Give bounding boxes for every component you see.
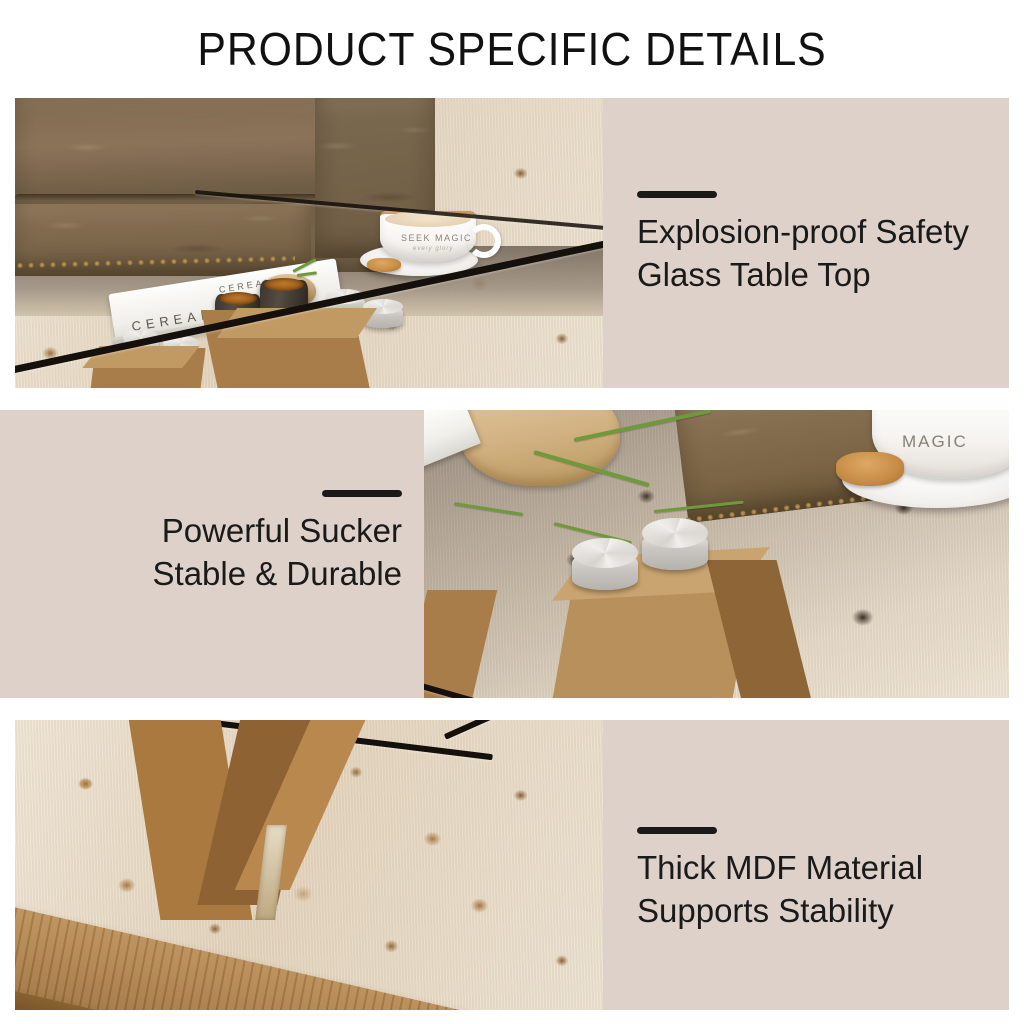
cookie — [836, 452, 904, 486]
cookie — [367, 258, 401, 272]
panel-1-photo: CEREAL CEREAL SEEK MAGIC ev — [15, 98, 603, 388]
product-detail-infographic: PRODUCT SPECIFIC DETAILS CEREAL CEREAL — [0, 0, 1024, 1024]
suction-pad-top — [572, 538, 638, 568]
panel-3-caption: Thick MDF Material Supports Stability — [637, 846, 923, 932]
panel-1-text-pane: Explosion-proof Safety Glass Table Top — [603, 98, 1009, 388]
panel-3-text-pane: Thick MDF Material Supports Stability — [603, 720, 1009, 1010]
panel-2-caption: Powerful Sucker Stable & Durable — [153, 509, 402, 595]
accent-rule — [637, 191, 717, 198]
detail-panel-powerful-sucker: Powerful Sucker Stable & Durable — [0, 410, 1009, 698]
panel-3-photo — [15, 720, 603, 1010]
panel-2-photo: MAGIC — [424, 410, 1009, 698]
cup-tagline-text: every glory — [413, 246, 453, 252]
canister-contents — [264, 278, 304, 291]
panel-2-text-pane: Powerful Sucker Stable & Durable — [0, 410, 424, 698]
suction-pad-top — [642, 518, 708, 548]
accent-rule — [637, 827, 717, 834]
accent-rule — [322, 490, 402, 497]
cup-handle — [467, 224, 501, 258]
cup-brand-text: SEEK MAGIC — [401, 233, 472, 243]
detail-panel-explosion-proof: CEREAL CEREAL SEEK MAGIC ev — [15, 98, 1009, 388]
cup-brand-text: MAGIC — [902, 432, 968, 452]
detail-panel-thick-mdf: Thick MDF Material Supports Stability — [15, 720, 1009, 1010]
page-title: PRODUCT SPECIFIC DETAILS — [36, 22, 988, 76]
panel-1-caption: Explosion-proof Safety Glass Table Top — [637, 210, 969, 296]
canister-contents — [219, 292, 257, 305]
